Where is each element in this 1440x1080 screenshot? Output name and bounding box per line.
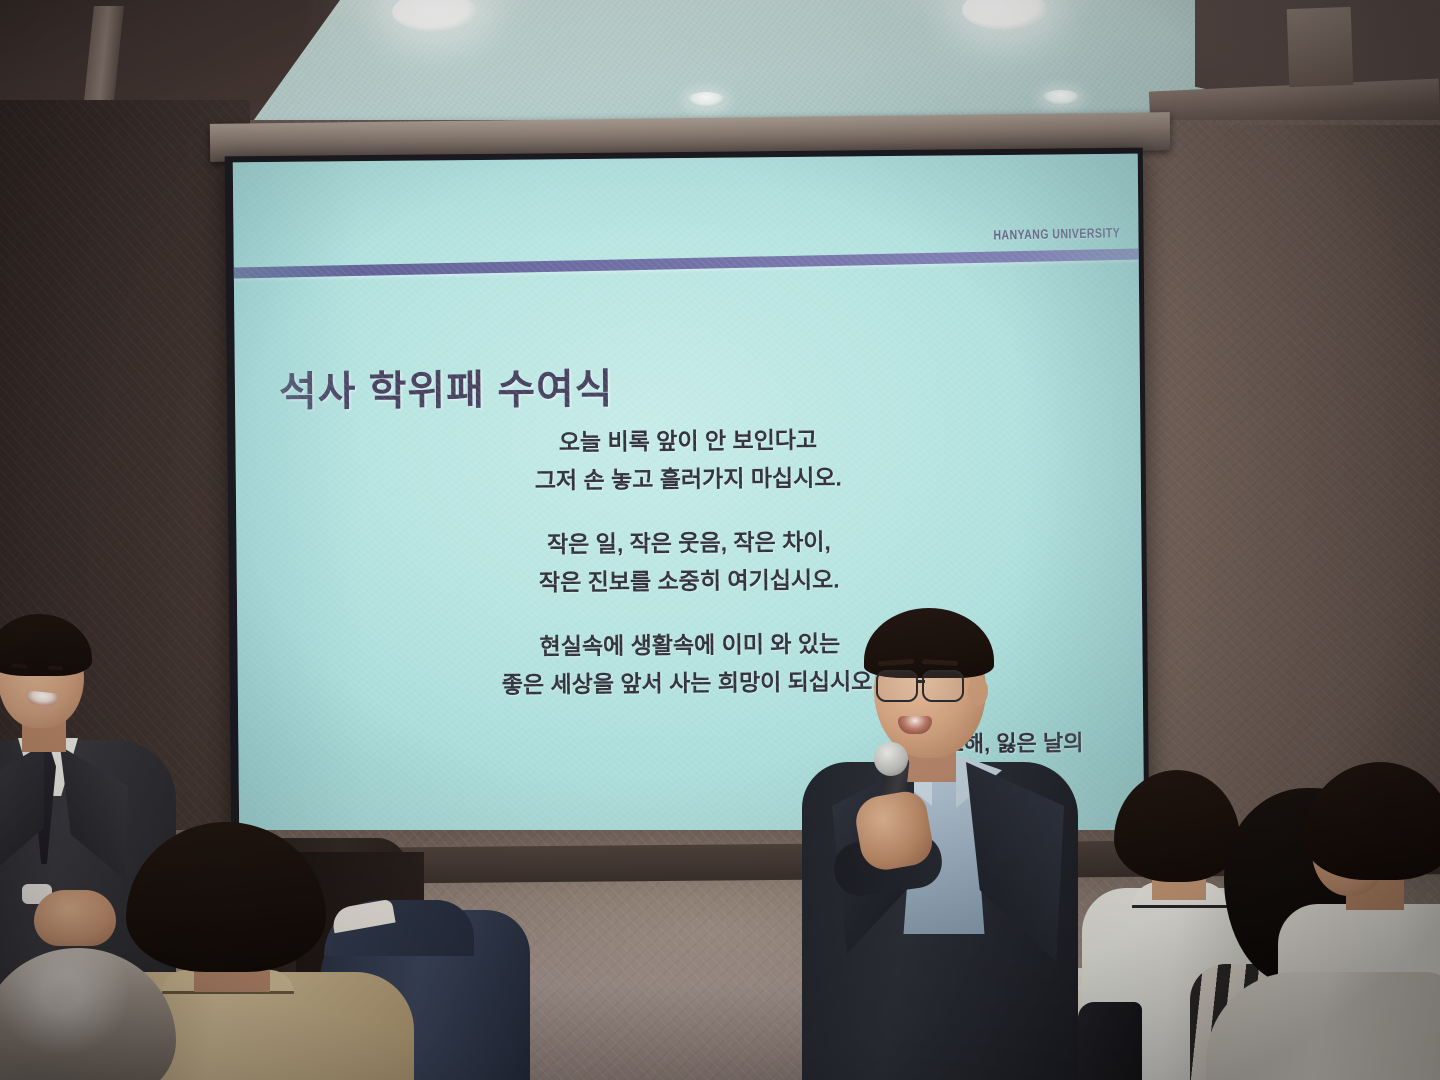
slide-stanza-2: 작은 일, 작은 웃음, 작은 차이, 작은 진보를 소중히 여기십시오. (236, 520, 1142, 605)
slide-title: 석사 학위패 수여식 (279, 355, 614, 418)
ceiling-downlight-right-icon (1042, 90, 1080, 105)
presenter (770, 612, 1100, 1080)
slide-stanza-1: 오늘 비록 앞이 안 보인다고 그저 손 놓고 흘러가지 마십시오. (235, 418, 1141, 503)
foreground-right-shoulder-body (1206, 972, 1440, 1080)
foreground-right-shoulder (1206, 972, 1440, 1080)
glasses-icon (876, 670, 918, 702)
university-logo: HANYANG UNIVERSITY (993, 225, 1120, 242)
presenter-ear (968, 676, 988, 706)
ceiling-downlight-left-icon (687, 92, 725, 107)
presentation-room-photo: HANYANG UNIVERSITY 석사 학위패 수여식 오늘 비록 앞이 안… (0, 0, 1440, 1080)
foreground-grey-hair-head (0, 948, 176, 1080)
foreground-grey-hair (0, 948, 180, 1080)
audience-striped-shirt-hair (1304, 762, 1440, 880)
glasses-icon (922, 670, 964, 702)
ceiling-block-right (1287, 7, 1354, 87)
slide-divider-bar (233, 248, 1144, 278)
glasses-bridge (917, 680, 925, 683)
slide-line: 작은 진보를 소중히 여기십시오. (237, 558, 1142, 605)
presenter-hair (864, 608, 994, 678)
slide-line: 그저 손 놓고 흘러가지 마십시오. (236, 456, 1141, 503)
